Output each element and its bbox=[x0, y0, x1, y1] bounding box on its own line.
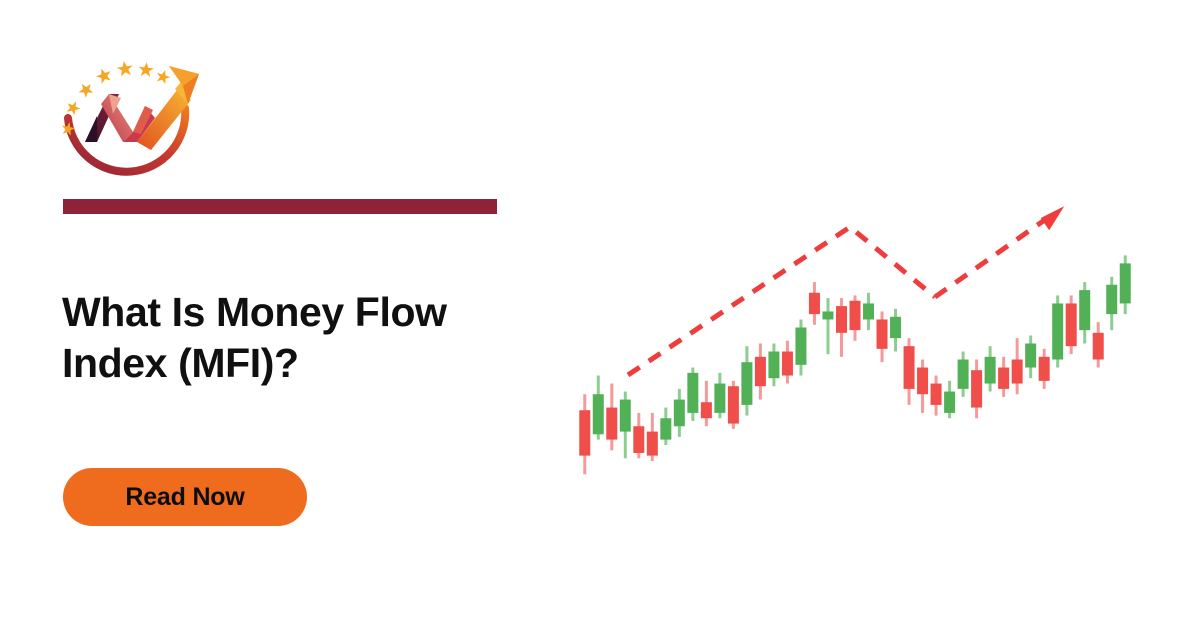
page-title: What Is Money Flow Index (MFI)? bbox=[62, 287, 522, 390]
candle-body bbox=[998, 368, 1009, 389]
trendline-arrowhead-icon bbox=[1041, 206, 1064, 230]
candle-body bbox=[795, 327, 806, 364]
candle-body bbox=[985, 357, 996, 384]
candle-body bbox=[1012, 360, 1023, 384]
candle-body bbox=[1093, 333, 1104, 360]
candle-body bbox=[647, 432, 658, 456]
candle bbox=[782, 341, 793, 384]
candle bbox=[1025, 335, 1036, 378]
candle bbox=[674, 389, 685, 437]
candle bbox=[1093, 322, 1104, 367]
candle-body bbox=[971, 370, 982, 407]
candle-body bbox=[917, 368, 928, 395]
candle bbox=[768, 343, 779, 386]
candle-body bbox=[890, 317, 901, 338]
candlestick-chart-svg bbox=[560, 0, 1200, 628]
candle-body bbox=[768, 352, 779, 379]
candle-body bbox=[687, 373, 698, 413]
candle-body bbox=[1106, 285, 1117, 314]
candle-body bbox=[714, 384, 725, 413]
candle-body bbox=[836, 306, 847, 333]
candle-body bbox=[1025, 343, 1036, 367]
candle bbox=[728, 381, 739, 429]
candle bbox=[579, 394, 590, 474]
candle bbox=[1012, 338, 1023, 394]
candle-body bbox=[755, 357, 766, 386]
candle bbox=[795, 319, 806, 375]
candle bbox=[687, 368, 698, 421]
candle-body bbox=[728, 386, 739, 423]
candle-body bbox=[782, 352, 793, 376]
candle bbox=[620, 392, 631, 459]
candle-body bbox=[674, 400, 685, 427]
candle bbox=[958, 352, 969, 397]
upward-arrow-chart-logo-icon bbox=[57, 46, 209, 180]
candle bbox=[647, 413, 658, 461]
candle bbox=[944, 381, 955, 418]
candle-body bbox=[850, 301, 861, 330]
trendline-breakout-up bbox=[935, 212, 1056, 297]
candle bbox=[701, 381, 712, 426]
candle bbox=[714, 373, 725, 418]
candle bbox=[809, 282, 820, 325]
trendline-annotations-layer bbox=[628, 206, 1064, 375]
read-now-button[interactable]: Read Now bbox=[63, 468, 307, 526]
candle bbox=[755, 343, 766, 399]
candle-body bbox=[701, 402, 712, 418]
candle bbox=[660, 408, 671, 445]
candle bbox=[904, 338, 915, 405]
promo-banner: What Is Money Flow Index (MFI)? Read Now bbox=[0, 0, 1200, 628]
candle bbox=[1066, 295, 1077, 354]
candle-body bbox=[633, 426, 644, 453]
candle bbox=[606, 384, 617, 451]
candle-body bbox=[620, 400, 631, 432]
candle-body bbox=[958, 360, 969, 389]
brand-logo[interactable] bbox=[57, 46, 209, 180]
candle-body bbox=[877, 319, 888, 348]
candle-body bbox=[822, 311, 833, 319]
candles-layer bbox=[579, 255, 1130, 474]
candle-body bbox=[1052, 303, 1063, 359]
candle bbox=[985, 346, 996, 391]
candle bbox=[836, 298, 847, 357]
candle-body bbox=[931, 384, 942, 405]
candle bbox=[1052, 295, 1063, 367]
candle bbox=[822, 298, 833, 354]
candle bbox=[971, 360, 982, 419]
candle bbox=[633, 413, 644, 458]
candle-body bbox=[809, 293, 820, 314]
candle bbox=[1039, 349, 1050, 389]
candle-body bbox=[1066, 303, 1077, 346]
candle-body bbox=[904, 346, 915, 389]
candle-body bbox=[863, 303, 874, 319]
candle-body bbox=[1120, 263, 1131, 303]
content-column: What Is Money Flow Index (MFI)? Read Now bbox=[0, 0, 560, 628]
divider-bar bbox=[63, 199, 497, 214]
candle-body bbox=[579, 410, 590, 455]
candle bbox=[998, 357, 1009, 397]
candle bbox=[850, 295, 861, 340]
candlestick-chart bbox=[560, 0, 1200, 628]
candle bbox=[863, 293, 874, 330]
candle-body bbox=[606, 408, 617, 440]
candle bbox=[877, 311, 888, 362]
candle bbox=[1120, 255, 1131, 314]
candle-body bbox=[660, 418, 671, 439]
candle-body bbox=[1079, 290, 1090, 330]
candle bbox=[1079, 282, 1090, 343]
candle-body bbox=[741, 362, 752, 405]
candle-body bbox=[1039, 357, 1050, 381]
candle-wick bbox=[826, 298, 829, 354]
candle bbox=[1106, 277, 1117, 330]
candle bbox=[931, 376, 942, 416]
candle bbox=[741, 346, 752, 415]
candle-body bbox=[944, 392, 955, 413]
trendline-up-then-down bbox=[628, 227, 935, 375]
candle-body bbox=[593, 394, 604, 434]
candle bbox=[890, 309, 901, 352]
candle bbox=[917, 360, 928, 413]
candle bbox=[593, 376, 604, 440]
